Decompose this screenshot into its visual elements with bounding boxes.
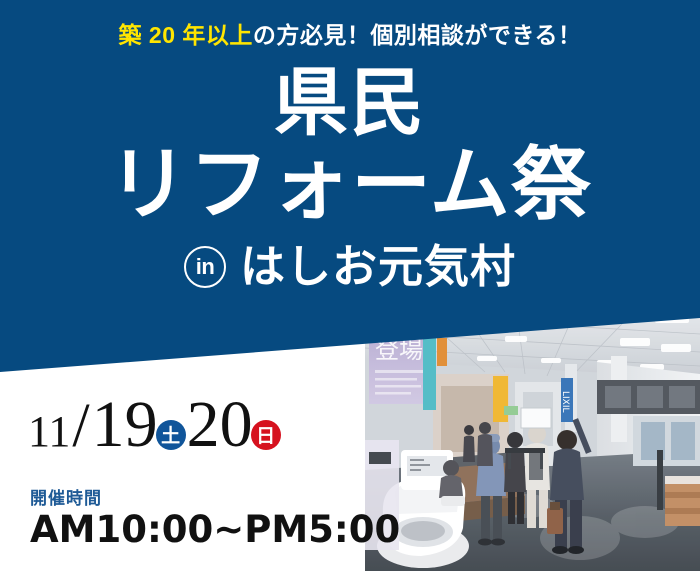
date-day-second: 20 xyxy=(187,392,253,458)
kicker-text: 築 20 年以上の方必見！個別相談ができる！ xyxy=(0,16,700,50)
event-date: 11 / 19 土 20 日 xyxy=(28,392,282,458)
event-time: 開催時間 AM10:00~PM5:00 xyxy=(30,484,400,550)
date-day-first: 19 xyxy=(92,392,158,458)
event-time-label: 開催時間 xyxy=(30,484,400,509)
event-title: 県民 リフォーム祭 xyxy=(0,66,700,230)
dow-badge-sunday: 日 xyxy=(251,420,281,450)
event-title-line2: リフォーム祭 xyxy=(0,140,700,230)
poster-root: 登場 LIXIL xyxy=(0,0,700,571)
venue-name: はしお元気村 xyxy=(240,244,516,289)
venue-row: in はしお元気村 xyxy=(0,244,700,289)
dow-badge-saturday: 土 xyxy=(156,420,186,450)
date-month: 11 xyxy=(28,410,70,454)
kicker-highlight: 築 20 年以上 xyxy=(119,22,253,48)
date-separator: / xyxy=(70,395,91,457)
event-time-value: AM10:00~PM5:00 xyxy=(30,511,400,550)
showroom-photo-illustration: 登場 LIXIL xyxy=(365,300,700,571)
showroom-photo: 登場 LIXIL xyxy=(365,300,700,571)
in-badge-icon: in xyxy=(184,246,226,288)
kicker-rest: の方必見！個別相談ができる！ xyxy=(253,22,582,48)
event-title-line1: 県民 xyxy=(0,66,700,140)
